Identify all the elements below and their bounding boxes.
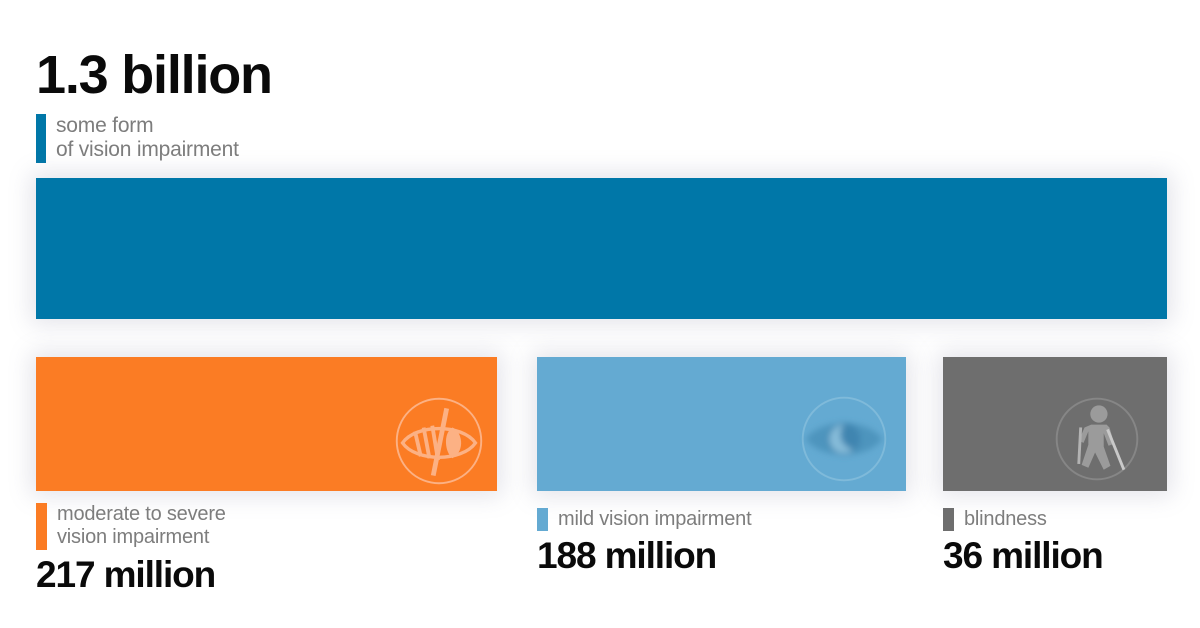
legend-blindness: blindness 36 million — [943, 508, 1103, 574]
legend-label-total: some form of vision impairment — [56, 114, 239, 163]
legend-blindness-row: blindness — [943, 508, 1103, 531]
legend-label-total-line2: of vision impairment — [56, 138, 239, 161]
headline-total-value: 1.3 billion — [36, 48, 676, 102]
legend-label-blindness: blindness — [964, 508, 1047, 531]
value-mild: 188 million — [537, 537, 751, 574]
legend-swatch-moderate — [36, 503, 47, 550]
eye-slash-icon — [391, 393, 487, 489]
legend-mild-row: mild vision impairment — [537, 508, 751, 531]
legend-swatch-mild — [537, 508, 548, 531]
legend-swatch-blindness — [943, 508, 954, 531]
legend-moderate-to-severe: moderate to severe vision impairment 217… — [36, 503, 226, 593]
bar-total-vision-impairment — [36, 178, 1167, 319]
legend-mild-vision-impairment: mild vision impairment 188 million — [537, 508, 751, 574]
bar-blindness — [943, 357, 1167, 491]
value-blindness: 36 million — [943, 537, 1103, 574]
legend-label-total-line1: some form — [56, 114, 153, 137]
legend-swatch-total — [36, 114, 46, 163]
legend-moderate-row: moderate to severe vision impairment — [36, 503, 226, 550]
bar-moderate-to-severe — [36, 357, 497, 491]
legend-label-moderate: moderate to severe vision impairment — [57, 503, 226, 550]
headline-block: 1.3 billion some form of vision impairme… — [36, 48, 676, 163]
legend-label-moderate-line2: vision impairment — [57, 526, 209, 548]
legend-label-moderate-line1: moderate to severe — [57, 503, 226, 525]
person-with-cane-icon — [1049, 391, 1145, 487]
legend-label-mild: mild vision impairment — [558, 508, 751, 531]
blurred-eye-icon — [796, 391, 892, 487]
value-moderate: 217 million — [36, 556, 226, 593]
infographic-canvas: 1.3 billion some form of vision impairme… — [0, 0, 1200, 628]
legend-total: some form of vision impairment — [36, 114, 676, 163]
bar-mild-vision-impairment — [537, 357, 906, 491]
